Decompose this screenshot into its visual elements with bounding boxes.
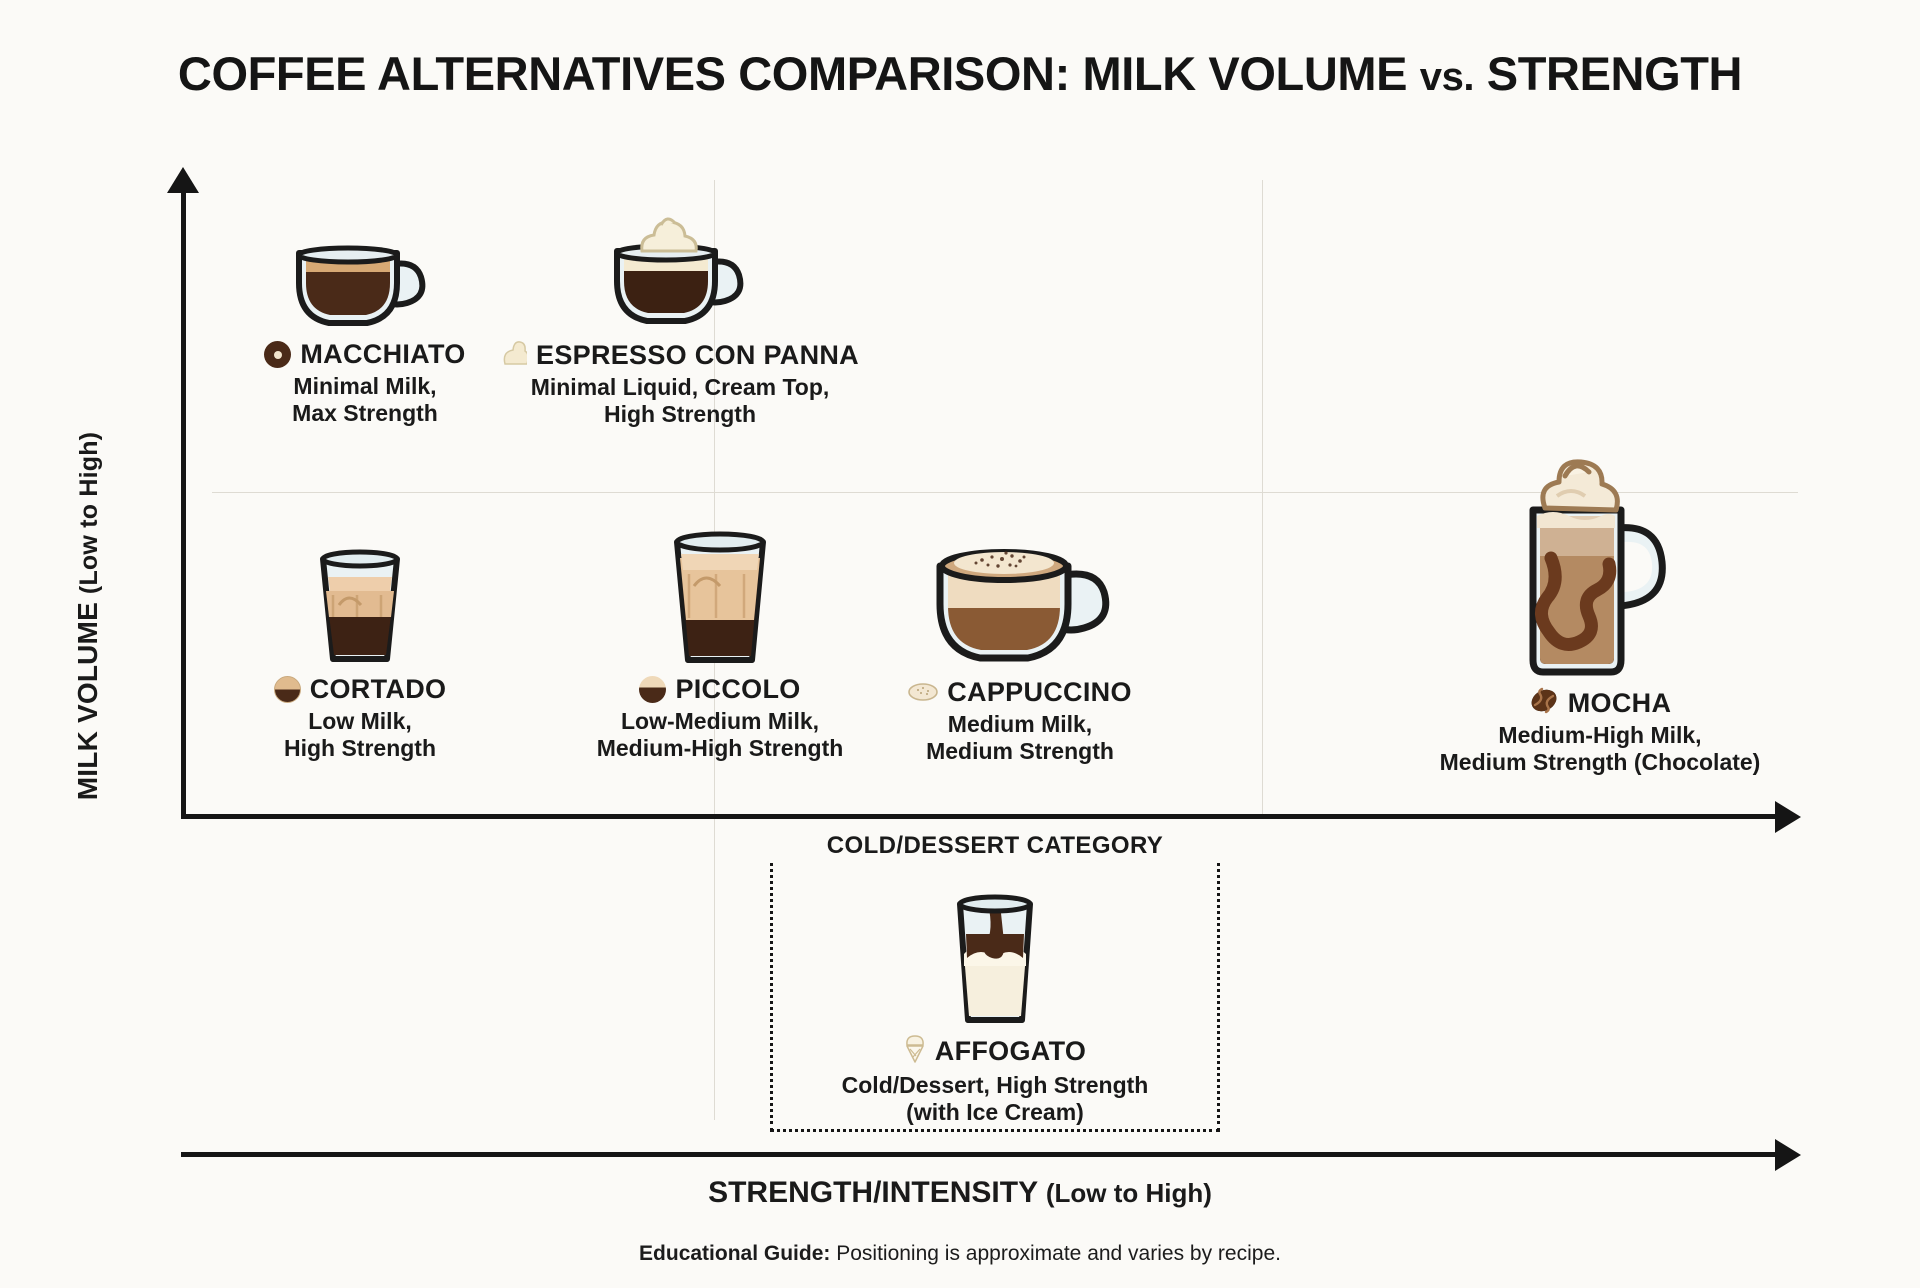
- cortado-label: CORTADO: [310, 674, 447, 705]
- infographic-canvas: COFFEE ALTERNATIVES COMPARISON: MILK VOL…: [0, 0, 1920, 1288]
- footnote-bold: Educational Guide:: [639, 1242, 830, 1265]
- x-axis-arrow-icon: [1775, 801, 1801, 833]
- y-axis-label: MILK VOLUME (Low to High): [72, 336, 104, 896]
- y-axis-label-main: MILK VOLUME: [72, 594, 103, 800]
- macchiato-dot-icon: [264, 341, 291, 368]
- page-title: COFFEE ALTERNATIVES COMPARISON: MILK VOL…: [0, 46, 1920, 101]
- affogato-label: AFFOGATO: [935, 1036, 1086, 1067]
- x-axis-label-main: STRENGTH/INTENSITY: [708, 1176, 1046, 1209]
- coffee-bean-icon: [1529, 687, 1559, 719]
- title-tail: STRENGTH: [1474, 47, 1742, 100]
- affogato-glass-icon: [930, 890, 1060, 1030]
- panna-cup-icon: [595, 205, 765, 335]
- y-axis-line: [181, 183, 186, 818]
- cortado-glass-icon: [295, 545, 425, 670]
- item-affogato[interactable]: AFFOGATO Cold/Dessert, High Strength (wi…: [800, 890, 1190, 1126]
- item-macchiato[interactable]: MACCHIATO Minimal Milk, Max Strength: [215, 225, 515, 427]
- cream-swirl-icon: [501, 339, 527, 371]
- cappuccino-cup-icon: [920, 518, 1120, 673]
- mocha-name-row: MOCHA: [1410, 687, 1790, 719]
- espresso-con-panna-illustration: [500, 205, 860, 335]
- foam-dome-icon: [908, 679, 938, 706]
- espresso-con-panna-name-row: ESPRESSO CON PANNA: [500, 339, 860, 371]
- piccolo-glass-icon: [650, 528, 790, 670]
- item-cappuccino[interactable]: CAPPUCCINO Medium Milk, Medium Strength: [850, 518, 1190, 765]
- espresso-cup-icon: [285, 225, 445, 335]
- mocha-description: Medium-High Milk, Medium Strength (Choco…: [1410, 722, 1790, 776]
- cortado-description: Low Milk, High Strength: [215, 708, 505, 762]
- mocha-illustration: [1410, 438, 1790, 683]
- gridline-vertical-2: [1262, 180, 1263, 815]
- x-axis-label-sub: (Low to High): [1046, 1178, 1212, 1208]
- cappuccino-illustration: [850, 518, 1190, 673]
- macchiato-name-row: MACCHIATO: [215, 339, 515, 370]
- half-fill-icon: [274, 676, 301, 703]
- title-main: COFFEE ALTERNATIVES COMPARISON: MILK VOL…: [178, 47, 1420, 100]
- affogato-illustration: [800, 890, 1190, 1030]
- affogato-name-row: AFFOGATO: [800, 1034, 1190, 1069]
- y-axis-label-sub: (Low to High): [75, 432, 103, 594]
- piccolo-label: PICCOLO: [675, 674, 800, 705]
- title-vs: vs.: [1420, 55, 1474, 99]
- item-cortado[interactable]: CORTADO Low Milk, High Strength: [215, 545, 505, 762]
- affogato-description: Cold/Dessert, High Strength (with Ice Cr…: [800, 1072, 1190, 1126]
- item-espresso-con-panna[interactable]: ESPRESSO CON PANNA Minimal Liquid, Cream…: [500, 205, 860, 428]
- cappuccino-name-row: CAPPUCCINO: [850, 677, 1190, 708]
- mocha-mug-icon: [1513, 438, 1688, 683]
- cold-dessert-category-label: COLD/DESSERT CATEGORY: [770, 832, 1220, 860]
- ice-cream-cone-icon: [904, 1034, 926, 1069]
- x-axis-baseline: [181, 1152, 1781, 1157]
- footnote-text: Positioning is approximate and varies by…: [830, 1242, 1281, 1265]
- half-fill-light-icon: [639, 676, 666, 703]
- macchiato-label: MACCHIATO: [300, 339, 465, 370]
- x-axis-line: [181, 814, 1781, 819]
- cortado-illustration: [215, 545, 505, 670]
- espresso-con-panna-description: Minimal Liquid, Cream Top, High Strength: [500, 374, 860, 428]
- cappuccino-description: Medium Milk, Medium Strength: [850, 711, 1190, 765]
- x-axis-baseline-arrow-icon: [1775, 1139, 1801, 1171]
- macchiato-description: Minimal Milk, Max Strength: [215, 373, 515, 427]
- cappuccino-label: CAPPUCCINO: [947, 677, 1132, 708]
- espresso-con-panna-label: ESPRESSO CON PANNA: [536, 340, 859, 371]
- y-axis-arrow-icon: [167, 167, 199, 193]
- footnote: Educational Guide: Positioning is approx…: [0, 1242, 1920, 1266]
- mocha-label: MOCHA: [1568, 688, 1672, 719]
- cortado-name-row: CORTADO: [215, 674, 505, 705]
- macchiato-illustration: [215, 225, 515, 335]
- item-mocha[interactable]: MOCHA Medium-High Milk, Medium Strength …: [1410, 438, 1790, 776]
- x-axis-label: STRENGTH/INTENSITY (Low to High): [0, 1176, 1920, 1210]
